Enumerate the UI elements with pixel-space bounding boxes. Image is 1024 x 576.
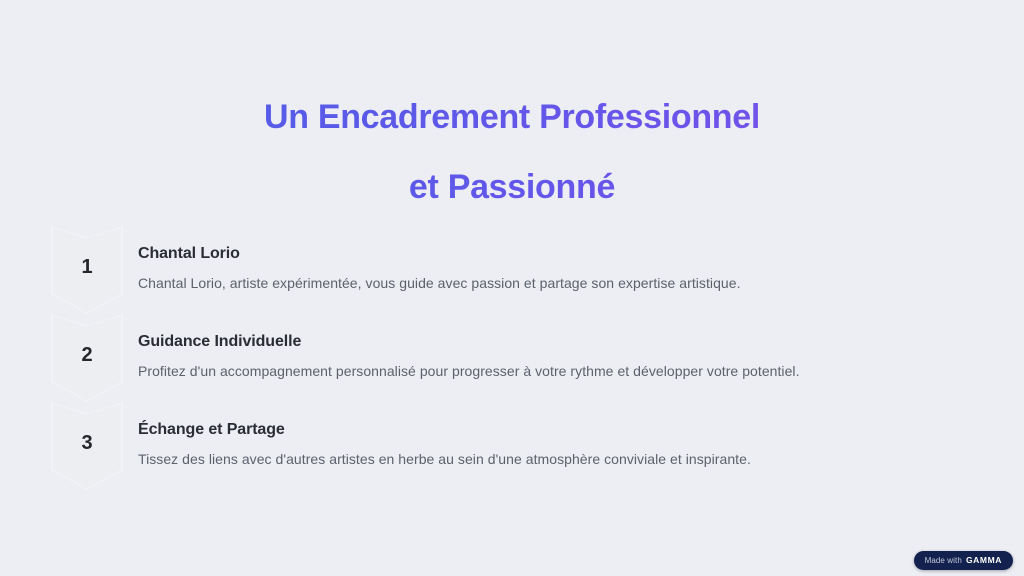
step-number-badge: 2 (51, 314, 123, 402)
step-number: 1 (51, 257, 123, 277)
made-with-gamma-badge[interactable]: Made with GAMMA (914, 551, 1013, 570)
list-item: 1 Chantal Lorio Chantal Lorio, artiste e… (0, 226, 1024, 314)
page-title-line-2: et Passionné (0, 152, 1024, 222)
step-description: Profitez d'un accompagnement personnalis… (138, 361, 1024, 381)
page-title: Un Encadrement Professionnel et Passionn… (0, 82, 1024, 222)
step-description: Chantal Lorio, artiste expérimentée, vou… (138, 273, 1024, 293)
steps-list: 1 Chantal Lorio Chantal Lorio, artiste e… (0, 226, 1024, 490)
step-text: Guidance Individuelle Profitez d'un acco… (123, 314, 1024, 381)
step-description: Tissez des liens avec d'autres artistes … (138, 449, 1024, 469)
made-with-label: Made with (925, 557, 962, 565)
step-number-badge: 1 (51, 226, 123, 314)
step-number-badge: 3 (51, 402, 123, 490)
step-heading: Chantal Lorio (138, 244, 1024, 264)
list-item: 3 Échange et Partage Tissez des liens av… (0, 402, 1024, 490)
step-heading: Échange et Partage (138, 420, 1024, 440)
step-number: 3 (51, 433, 123, 453)
list-item: 2 Guidance Individuelle Profitez d'un ac… (0, 314, 1024, 402)
page-title-line-1: Un Encadrement Professionnel (0, 82, 1024, 152)
slide-canvas: Un Encadrement Professionnel et Passionn… (0, 0, 1024, 576)
step-number: 2 (51, 345, 123, 365)
gamma-wordmark: GAMMA (966, 556, 1002, 565)
step-text: Échange et Partage Tissez des liens avec… (123, 402, 1024, 469)
step-text: Chantal Lorio Chantal Lorio, artiste exp… (123, 226, 1024, 293)
step-heading: Guidance Individuelle (138, 332, 1024, 352)
